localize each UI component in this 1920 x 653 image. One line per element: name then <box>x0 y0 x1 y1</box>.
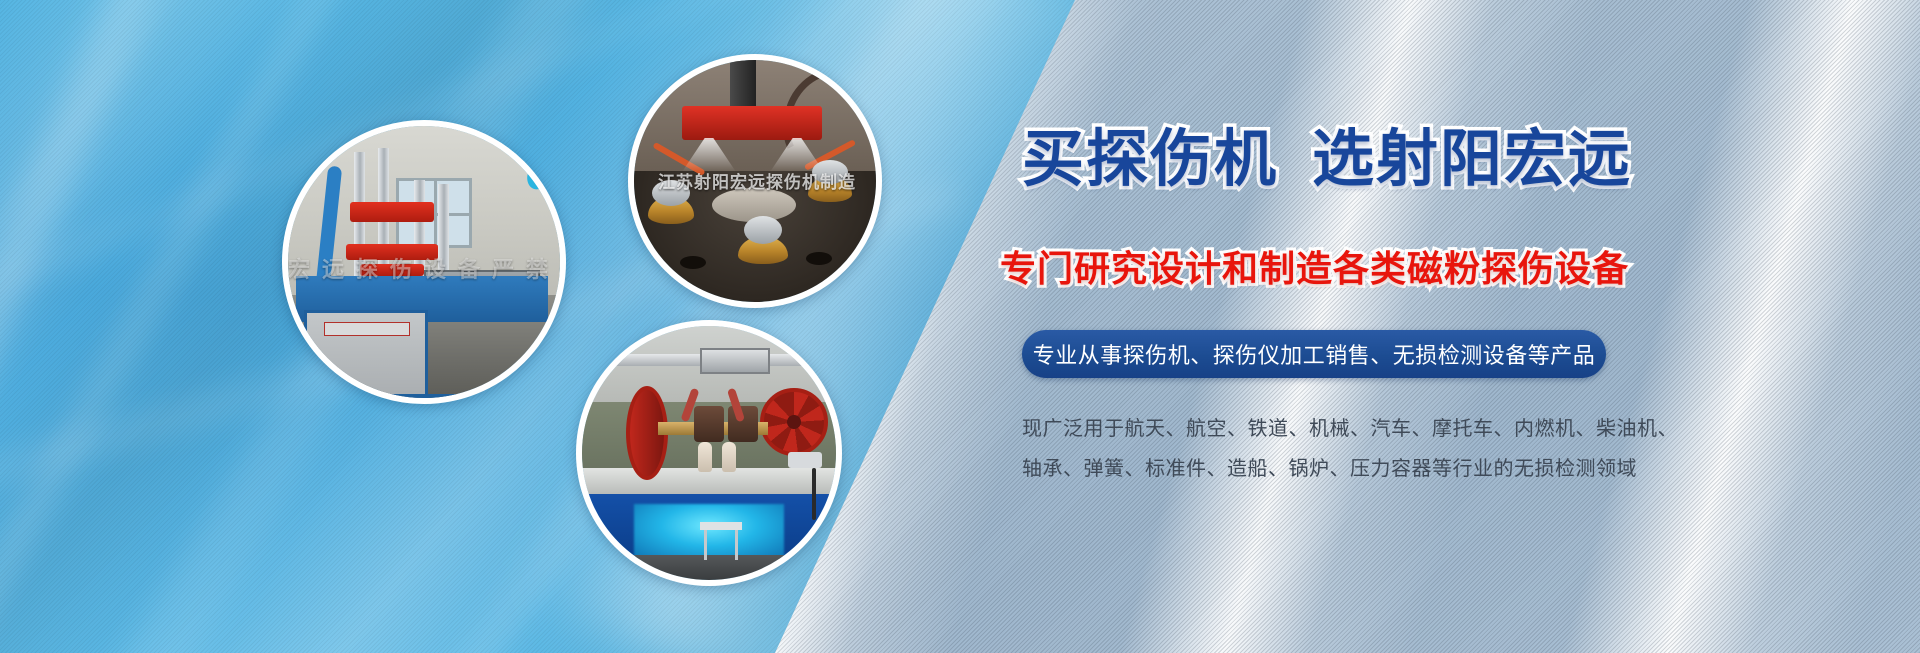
promo-banner: 宏远探伤设备严禁盗图 江苏射阳宏远探伤机制造 <box>0 0 1920 653</box>
photo-workshop-press-machine: 宏远探伤设备严禁盗图 <box>288 126 560 398</box>
product-photo-circle-2[interactable]: 江苏射阳宏远探伤机制造 <box>628 54 882 308</box>
photo-control-box <box>788 452 822 468</box>
photo-magnetic-particle-spray-table: 江苏射阳宏远探伤机制造 <box>634 60 876 302</box>
photo-mast <box>730 60 756 112</box>
photo-watermark: 江苏射阳宏远探伤机制造 <box>652 168 862 193</box>
photo-long-bench-testing-machine <box>582 326 836 580</box>
photo-watermark: 宏远探伤设备严禁盗图 <box>288 252 560 284</box>
photo-bolt-hole <box>680 256 706 269</box>
paragraph-line-2: 轴承、弹簧、标准件、造船、锅炉、压力容器等行业的无损检测领域 <box>1022 448 1642 488</box>
photo-red-wheel <box>760 388 828 456</box>
photo-bottle <box>698 442 712 472</box>
product-photo-circle-1[interactable]: 宏远探伤设备严禁盗图 <box>282 120 566 404</box>
photo-counter <box>582 468 836 493</box>
photo-machine-label <box>324 322 410 336</box>
photo-steel-plug <box>744 216 782 244</box>
photo-control-head <box>700 348 770 374</box>
banner-highlight-pill[interactable]: 专业从事探伤机、探伤仪加工销售、无损检测设备等产品 <box>1022 330 1606 378</box>
photo-chuck <box>728 406 758 442</box>
photo-machine-legs <box>318 394 528 398</box>
photo-cable <box>812 468 816 520</box>
photo-bolt-hole <box>806 252 832 265</box>
pill-label: 专业从事探伤机、探伤仪加工销售、无损检测设备等产品 <box>1033 338 1596 370</box>
headline-part-2: 选射阳宏远 <box>1312 122 1632 195</box>
photo-red-plate <box>350 202 434 222</box>
headline-part-1: 买探伤机 <box>1022 122 1278 195</box>
photo-chuck <box>694 406 724 442</box>
photo-uv-glow <box>634 504 784 558</box>
company-logo-icon <box>520 156 560 198</box>
photo-floor <box>582 555 836 580</box>
paragraph-line-1: 现广泛用于航天、航空、铁道、机械、汽车、摩托车、内燃机、柴油机、 <box>1022 408 1642 448</box>
banner-headline: 买探伤机选射阳宏远 <box>1022 126 1632 192</box>
photo-stool <box>700 522 742 530</box>
banner-subline: 专门研究设计和制造各类磁粉探伤设备 <box>1000 250 1629 290</box>
photo-red-crossbar <box>682 106 822 140</box>
banner-paragraph: 现广泛用于航天、航空、铁道、机械、汽车、摩托车、内燃机、柴油机、 轴承、弹簧、标… <box>1022 408 1642 488</box>
photo-bottle <box>722 442 736 472</box>
product-photo-circle-3[interactable] <box>576 320 842 586</box>
